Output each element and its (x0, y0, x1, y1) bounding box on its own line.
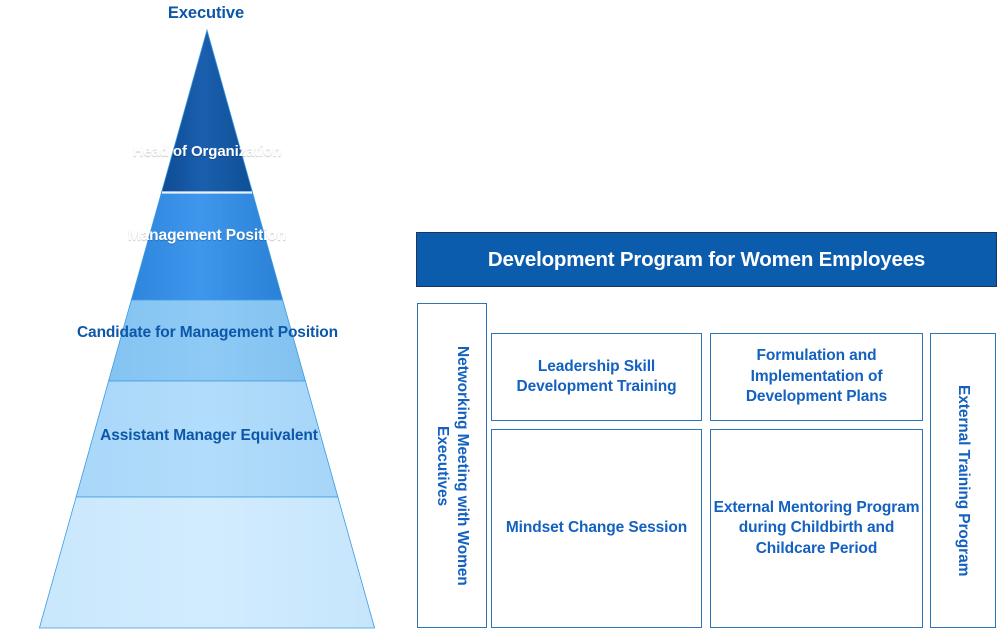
program-box-mindset-label: Mindset Change Session (506, 518, 687, 538)
program-box-networking: Networking Meeting with Women Executives (417, 303, 487, 628)
pyramid-diagram: Executive (0, 0, 412, 635)
program-box-external-training: External Training Program (930, 333, 996, 628)
program-box-formulation-label: Formulation and Implementation of Develo… (711, 346, 922, 407)
program-title-text: Development Program for Women Employees (488, 248, 925, 272)
program-box-leadership-label: Leadership Skill Development Training (492, 357, 701, 398)
pyramid-shape (0, 0, 412, 635)
development-program-panel: Development Program for Women Employees … (416, 232, 997, 628)
program-box-mentoring: External Mentoring Program during Childb… (710, 429, 923, 628)
program-box-networking-label: Networking Meeting with Women Executives (432, 311, 472, 621)
program-box-mentoring-label: External Mentoring Program during Childb… (711, 498, 922, 559)
program-title-bar: Development Program for Women Employees (416, 232, 997, 287)
program-box-formulation: Formulation and Implementation of Develo… (710, 333, 923, 421)
program-box-mindset: Mindset Change Session (491, 429, 702, 628)
program-box-external-training-label: External Training Program (953, 341, 973, 621)
program-box-leadership: Leadership Skill Development Training (491, 333, 702, 421)
